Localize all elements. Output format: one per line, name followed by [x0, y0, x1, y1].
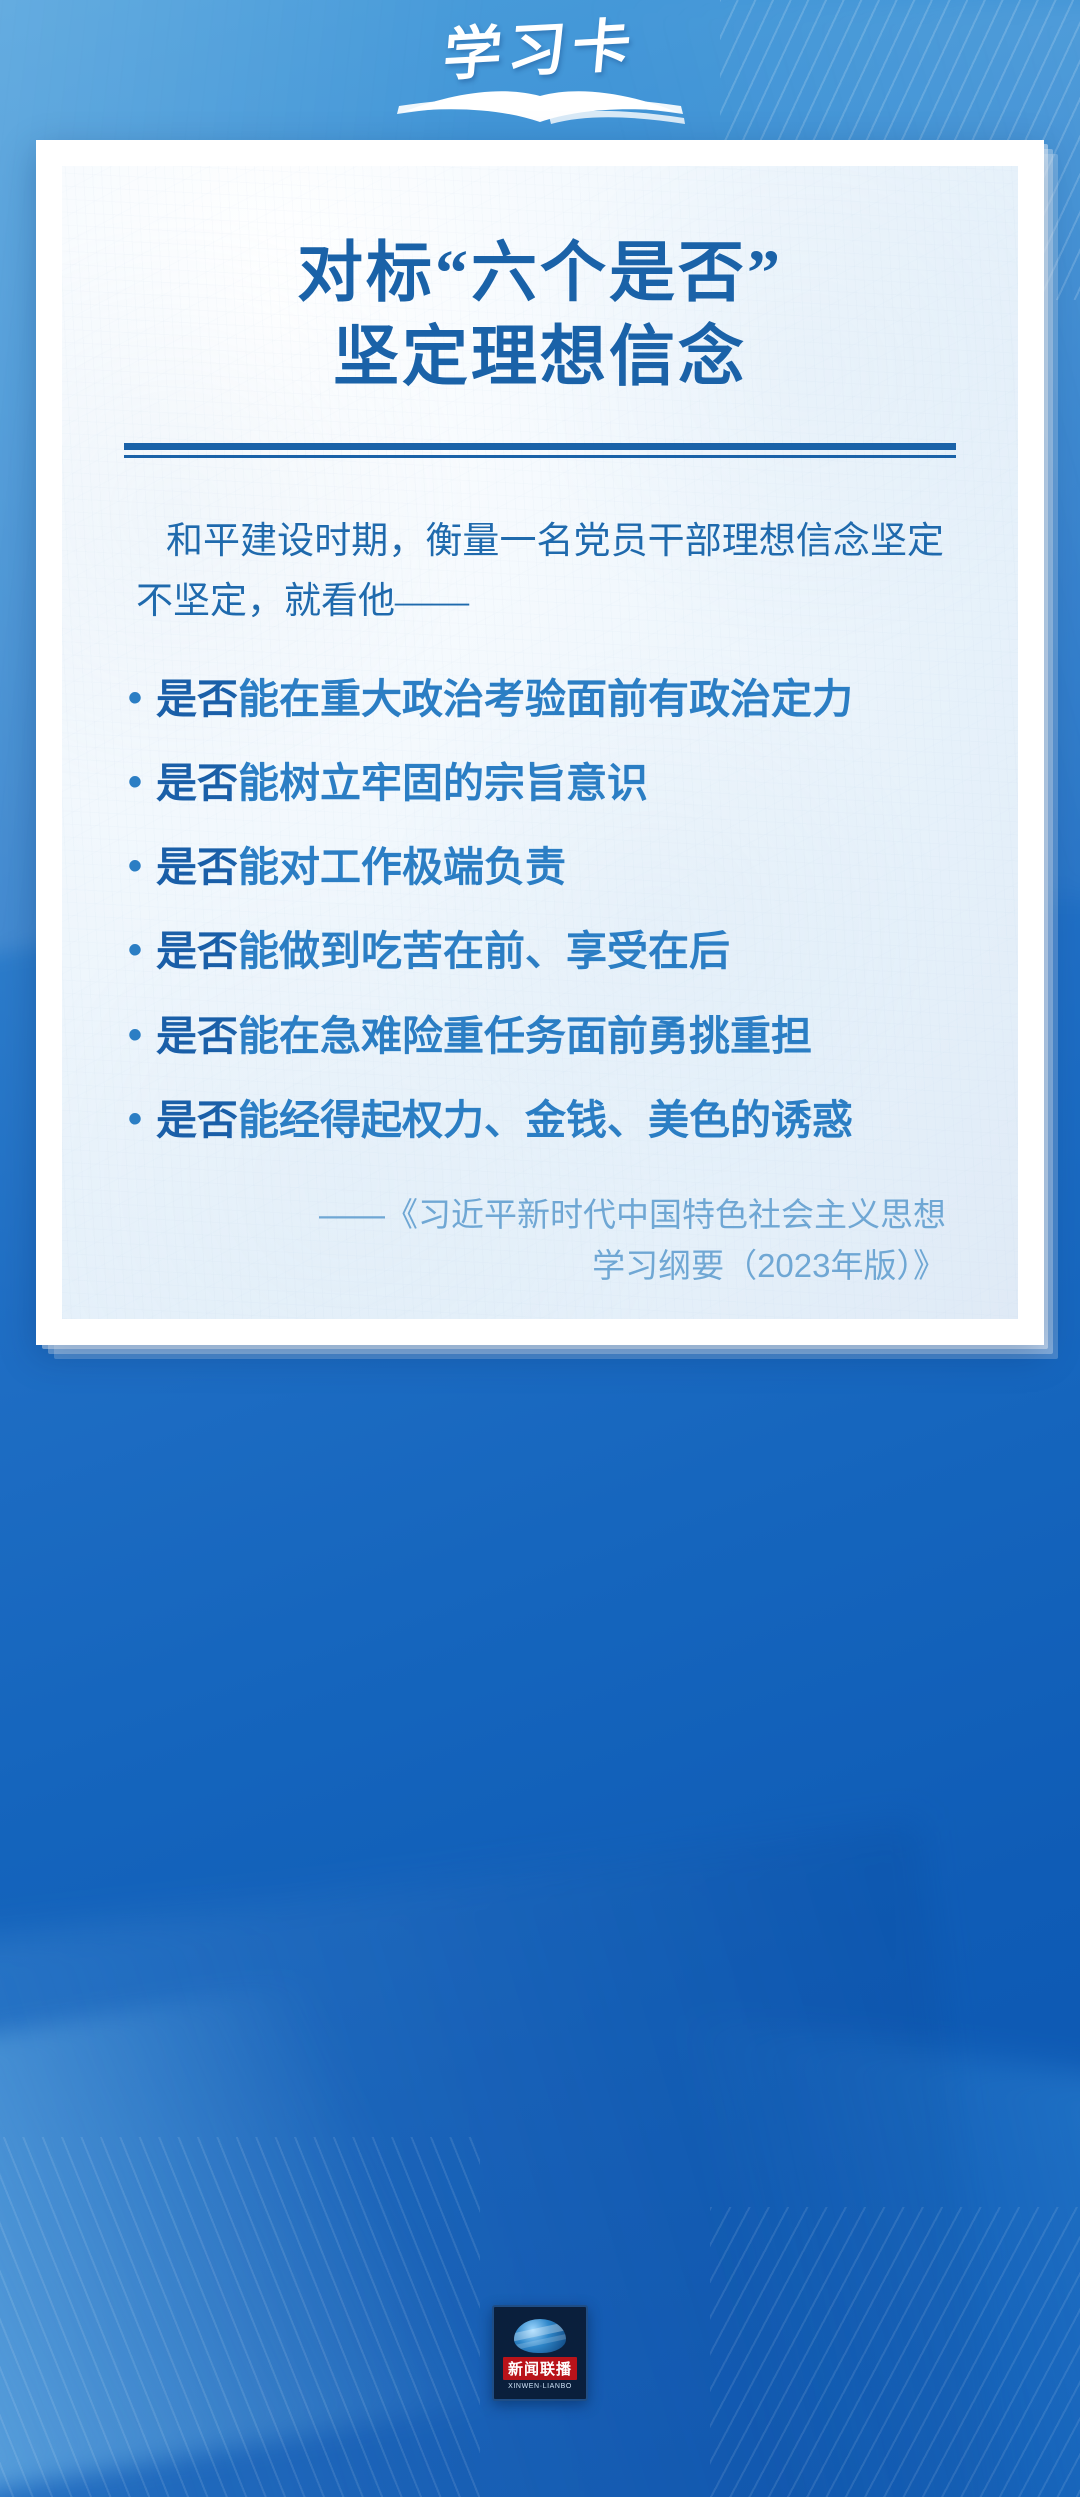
- brand-logo-text: 学习卡: [371, 13, 708, 88]
- attribution-line-2: 学习纲要（2023年版）》: [120, 1240, 946, 1291]
- bullet-dot-icon: •: [128, 922, 152, 979]
- list-item-highlight: 是否: [156, 676, 238, 722]
- list-item-text: 是否能在重大政治考验面前有政治定力: [156, 670, 952, 728]
- header: 学习卡: [0, 18, 1080, 128]
- list-item: • 是否能树立牢固的宗旨意识: [128, 754, 952, 812]
- badge-title-cn: 新闻联播: [503, 2357, 577, 2380]
- list-item-rest: 能对工作极端负责: [238, 844, 566, 890]
- card-paper: 对标“六个是否” 坚定理想信念 和平建设时期，衡量一名党员干部理想信念坚定不坚定…: [62, 166, 1018, 1319]
- list-item-rest: 能在急难险重任务面前勇挑重担: [238, 1013, 812, 1059]
- source-attribution: ——《习近平新时代中国特色社会主义思想 学习纲要（2023年版）》: [120, 1189, 960, 1291]
- divider-thick-rule: [124, 443, 956, 450]
- light-sweep-bottom-left: [0, 1945, 574, 2497]
- list-item-highlight: 是否: [156, 1097, 238, 1143]
- list-item: • 是否能在重大政治考验面前有政治定力: [128, 670, 952, 728]
- list-item-rest: 能树立牢固的宗旨意识: [238, 760, 648, 806]
- list-item-highlight: 是否: [156, 760, 238, 806]
- intro-paragraph: 和平建设时期，衡量一名党员干部理想信念坚定不坚定，就看他——: [120, 512, 960, 632]
- badge-title-en: XINWEN·LIANBO: [508, 2383, 572, 2390]
- bullet-dot-icon: •: [128, 1007, 152, 1064]
- title-divider: [124, 443, 956, 458]
- page-title-line-2: 坚定理想信念: [120, 316, 960, 400]
- light-sweep-bottom-right: [548, 2007, 1080, 2497]
- globe-icon: [514, 2319, 566, 2353]
- criteria-list: • 是否能在重大政治考验面前有政治定力 • 是否能树立牢固的宗旨意识 • 是否能…: [120, 670, 960, 1149]
- list-item-rest: 能在重大政治考验面前有政治定力: [238, 676, 853, 722]
- list-item-text: 是否能做到吃苦在前、享受在后: [156, 922, 952, 980]
- list-item-rest: 能经得起权力、金钱、美色的诱惑: [238, 1097, 853, 1143]
- list-item-rest: 能做到吃苦在前、享受在后: [238, 928, 730, 974]
- study-card: 对标“六个是否” 坚定理想信念 和平建设时期，衡量一名党员干部理想信念坚定不坚定…: [36, 140, 1044, 1345]
- footer: 新闻联播 XINWEN·LIANBO: [0, 2305, 1080, 2401]
- bullet-dot-icon: •: [128, 838, 152, 895]
- list-item: • 是否能经得起权力、金钱、美色的诱惑: [128, 1091, 952, 1149]
- list-item-text: 是否能树立牢固的宗旨意识: [156, 754, 952, 812]
- list-item-text: 是否能经得起权力、金钱、美色的诱惑: [156, 1091, 952, 1149]
- brand-logo: 学习卡: [375, 20, 705, 128]
- poster-background: 学习卡 对标“六个是否” 坚定理想信念: [0, 0, 1080, 2497]
- list-item-highlight: 是否: [156, 844, 238, 890]
- card-frame: 对标“六个是否” 坚定理想信念 和平建设时期，衡量一名党员干部理想信念坚定不坚定…: [36, 140, 1044, 1345]
- open-book-icon: [395, 84, 685, 132]
- list-item-text: 是否能在急难险重任务面前勇挑重担: [156, 1007, 952, 1065]
- bullet-dot-icon: •: [128, 1091, 152, 1148]
- bullet-dot-icon: •: [128, 754, 152, 811]
- bullet-dot-icon: •: [128, 670, 152, 727]
- attribution-line-1: ——《习近平新时代中国特色社会主义思想: [120, 1189, 946, 1240]
- list-item-highlight: 是否: [156, 928, 238, 974]
- list-item: • 是否能做到吃苦在前、享受在后: [128, 922, 952, 980]
- list-item-highlight: 是否: [156, 1013, 238, 1059]
- list-item: • 是否能在急难险重任务面前勇挑重担: [128, 1007, 952, 1065]
- page-title-line-1: 对标“六个是否”: [120, 232, 960, 316]
- page-title: 对标“六个是否” 坚定理想信念: [120, 232, 960, 401]
- xinwen-lianbo-badge: 新闻联播 XINWEN·LIANBO: [492, 2305, 588, 2401]
- list-item-text: 是否能对工作极端负责: [156, 838, 952, 896]
- list-item: • 是否能对工作极端负责: [128, 838, 952, 896]
- divider-thin-rule: [124, 455, 956, 458]
